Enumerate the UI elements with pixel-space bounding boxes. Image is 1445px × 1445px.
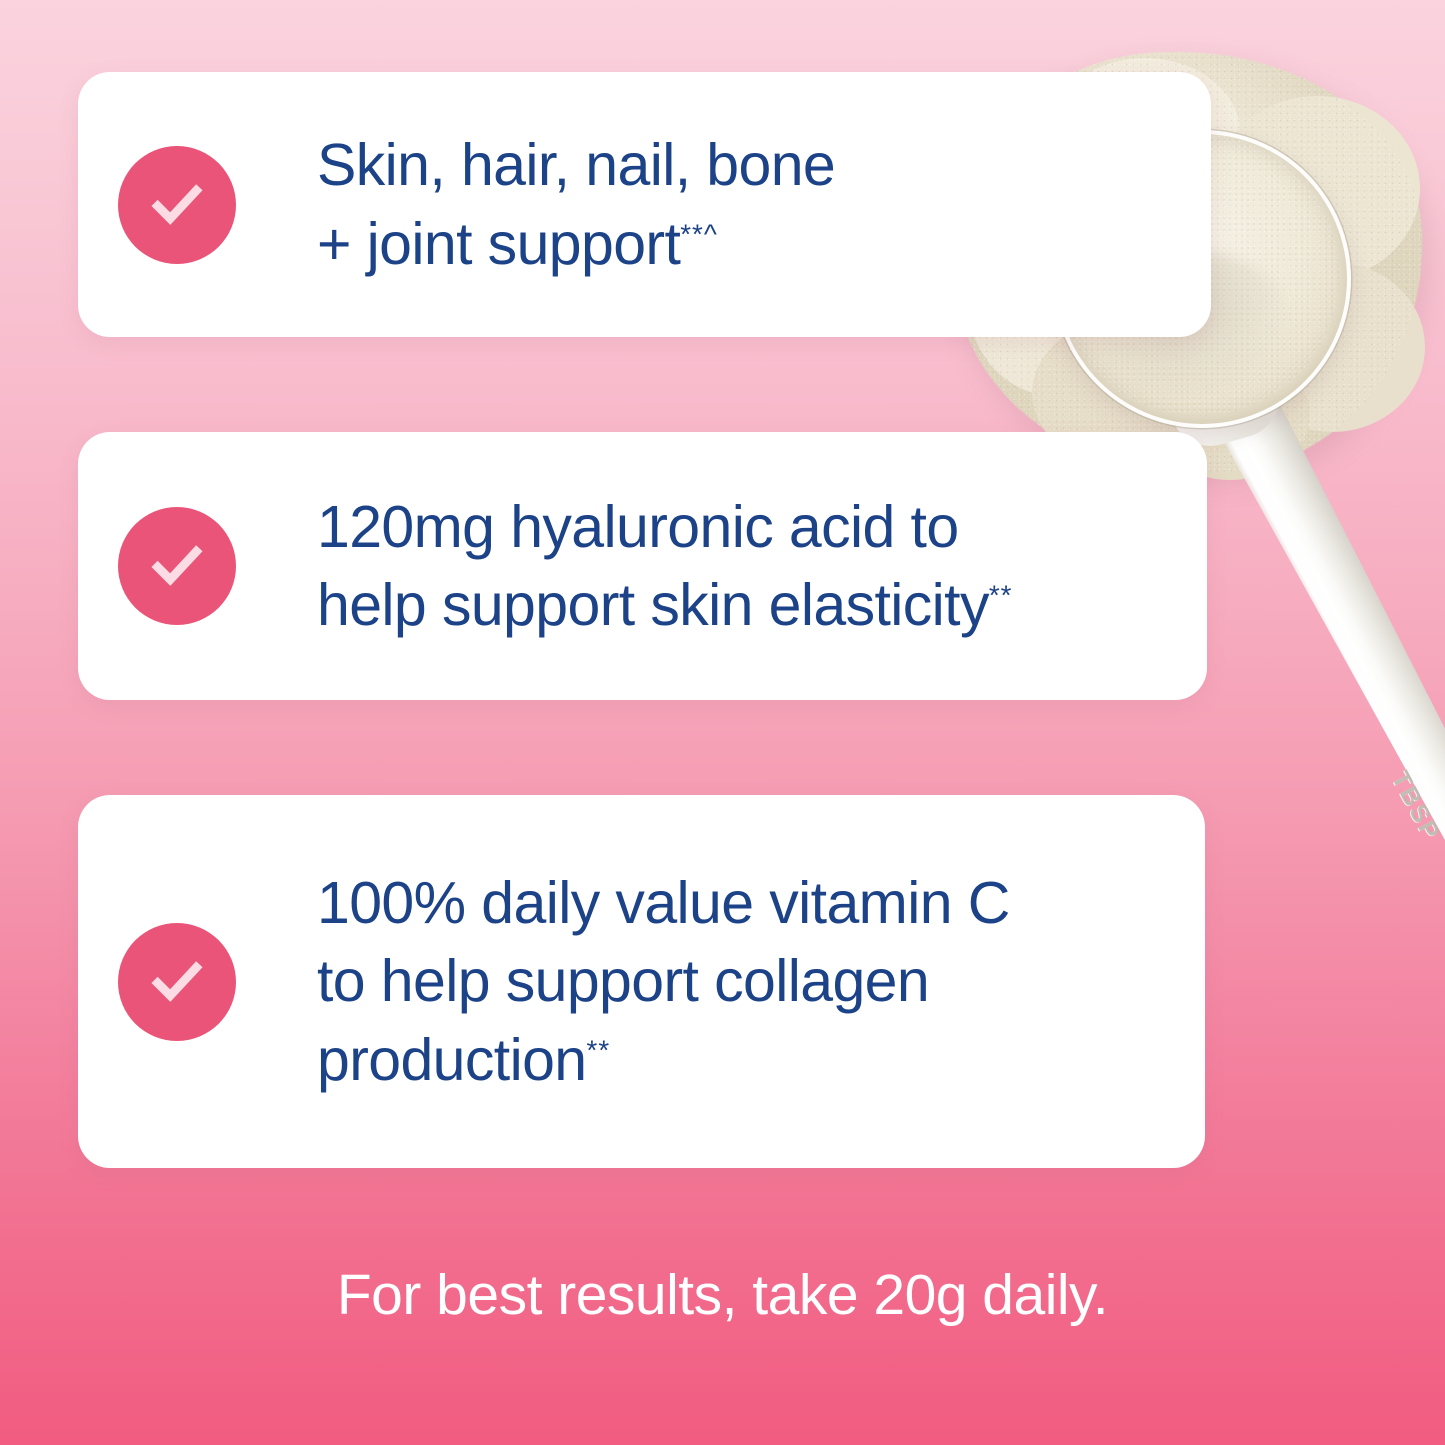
benefit-card-text: 120mg hyaluronic acid to help support sk… xyxy=(317,488,1012,645)
check-circle-icon xyxy=(118,507,236,625)
scoop-tbsp-emboss-label: TBSP xyxy=(1385,767,1445,847)
benefit-card-text: Skin, hair, nail, bone + joint support**… xyxy=(317,126,835,283)
benefit-card: 100% daily value vitamin C to help suppo… xyxy=(78,795,1205,1168)
check-circle-icon xyxy=(118,146,236,264)
usage-instruction-text: For best results, take 20g daily. xyxy=(0,1262,1445,1328)
marketing-image-canvas: TBSP Skin, hair, nail, bone + joint supp… xyxy=(0,0,1445,1445)
powder-lobe xyxy=(1240,262,1425,432)
scoop-handle xyxy=(1195,362,1445,1017)
benefit-superscript: ** xyxy=(989,579,1013,610)
benefit-line: to help support collagen xyxy=(317,948,929,1014)
benefit-line: 100% daily value vitamin C xyxy=(317,870,1010,936)
benefit-line: 120mg hyaluronic acid to xyxy=(317,494,959,560)
benefit-superscript: ** xyxy=(587,1034,611,1065)
benefit-line: + joint support xyxy=(317,211,680,277)
benefit-superscript: **^ xyxy=(680,218,718,249)
benefit-card: 120mg hyaluronic acid to help support sk… xyxy=(78,432,1207,700)
scoop-handle-highlight xyxy=(1209,384,1445,974)
benefit-line: help support skin elasticity xyxy=(317,572,989,638)
check-circle-icon xyxy=(118,923,236,1041)
benefit-line: production xyxy=(317,1027,587,1093)
benefit-card-text: 100% daily value vitamin C to help suppo… xyxy=(317,864,1010,1099)
benefit-line: Skin, hair, nail, bone xyxy=(317,132,835,198)
powder-lobe xyxy=(1215,96,1420,281)
benefit-card: Skin, hair, nail, bone + joint support**… xyxy=(78,72,1211,337)
